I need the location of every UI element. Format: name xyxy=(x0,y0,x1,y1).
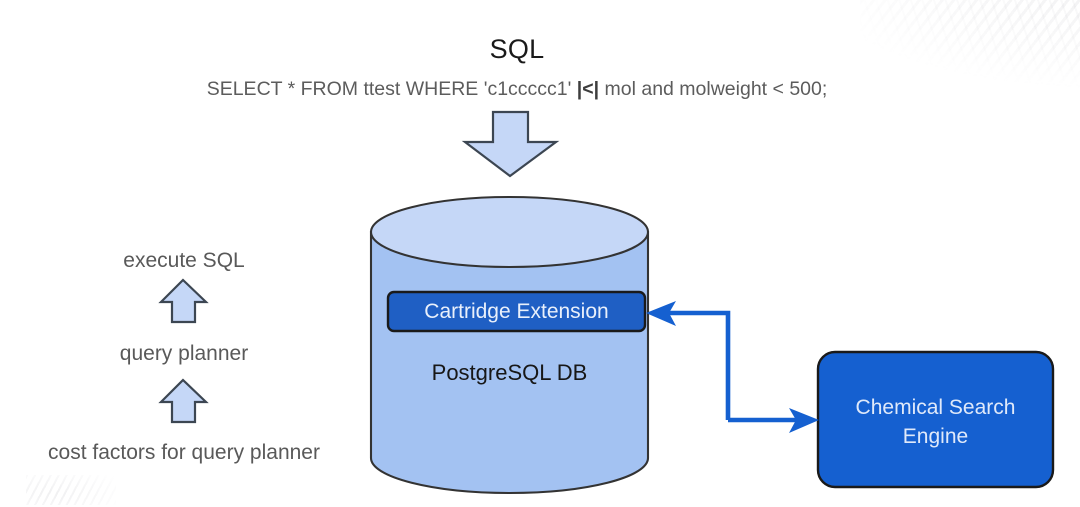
sql-query-prefix: SELECT * FROM ttest WHERE 'c1ccccc1' xyxy=(207,78,577,100)
connector-engine-to-cartridge xyxy=(661,313,728,420)
sql-query-statement: SELECT * FROM ttest WHERE 'c1ccccc1' |<|… xyxy=(0,78,1034,101)
sql-query-operator: |<| xyxy=(577,78,599,100)
down-arrow-to-database xyxy=(465,112,556,176)
page-title: SQL xyxy=(0,34,1034,65)
cartridge-extension-label: Cartridge Extension xyxy=(388,300,645,324)
chemical-search-engine-label-line2: Engine xyxy=(903,425,968,448)
sql-query-suffix: mol and molweight < 500; xyxy=(599,78,827,100)
chemical-search-engine-label: Chemical SearchEngine xyxy=(818,393,1053,451)
label-query-planner: query planner xyxy=(0,342,368,366)
label-execute-sql: execute SQL xyxy=(0,249,368,273)
up-arrow-cost-factors-to-query-planner xyxy=(161,380,206,422)
up-arrow-query-planner-to-execute-sql xyxy=(161,280,206,322)
postgresql-db-label: PostgreSQL DB xyxy=(371,360,648,386)
diagram-canvas: SQL SELECT * FROM ttest WHERE 'c1ccccc1'… xyxy=(0,0,1080,507)
label-cost-factors: cost factors for query planner xyxy=(0,441,368,465)
chemical-search-engine-label-line1: Chemical Search xyxy=(856,396,1016,419)
database-cylinder-top xyxy=(371,197,648,267)
